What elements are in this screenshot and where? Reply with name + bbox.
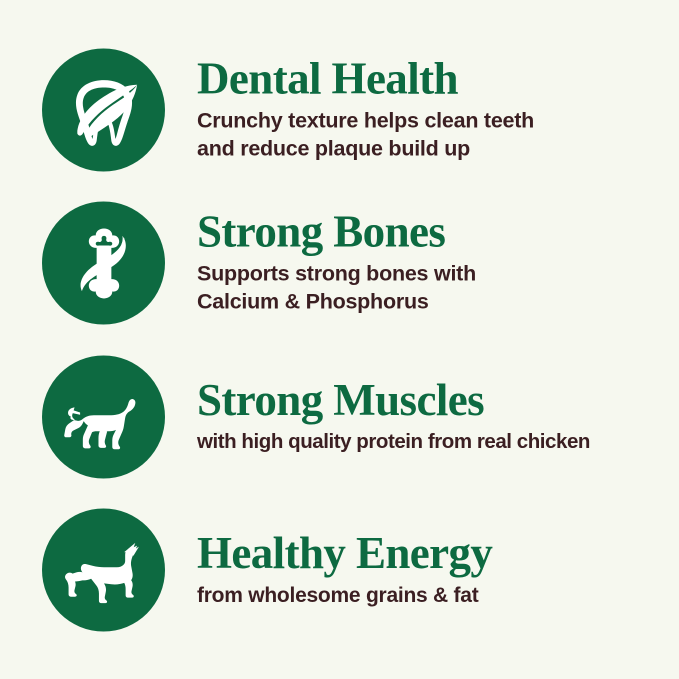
benefit-row: Strong Bones Supports strong bones with … [0, 186, 679, 340]
benefit-icon-badge [42, 49, 165, 172]
benefit-text-block: Dental Health Crunchy texture helps clea… [197, 57, 667, 164]
benefit-icon-badge [42, 509, 165, 632]
standing-dog-icon [58, 371, 150, 463]
bone-swoosh-icon [58, 217, 150, 309]
benefit-description: with high quality protein from real chic… [197, 429, 667, 456]
benefit-text-block: Strong Muscles with high quality protein… [197, 378, 667, 456]
benefit-text-block: Healthy Energy from wholesome grains & f… [197, 531, 667, 609]
benefit-text-block: Strong Bones Supports strong bones with … [197, 210, 667, 317]
benefits-infographic: Dental Health Crunchy texture helps clea… [0, 0, 679, 679]
benefit-title: Strong Muscles [197, 378, 667, 424]
benefit-description: Crunchy texture helps clean teeth and re… [197, 108, 667, 164]
benefit-title: Strong Bones [197, 210, 667, 256]
leaping-dog-icon [58, 524, 150, 616]
benefit-icon-badge [42, 202, 165, 325]
benefit-title: Dental Health [197, 57, 667, 103]
benefit-description: Supports strong bones with Calcium & Pho… [197, 261, 667, 317]
benefit-description: from wholesome grains & fat [197, 582, 667, 609]
benefit-row: Healthy Energy from wholesome grains & f… [0, 493, 679, 647]
benefit-icon-badge [42, 356, 165, 479]
benefit-title: Healthy Energy [197, 531, 667, 577]
tooth-leaf-icon [58, 64, 150, 156]
benefit-row: Strong Muscles with high quality protein… [0, 340, 679, 494]
benefit-row: Dental Health Crunchy texture helps clea… [0, 33, 679, 187]
